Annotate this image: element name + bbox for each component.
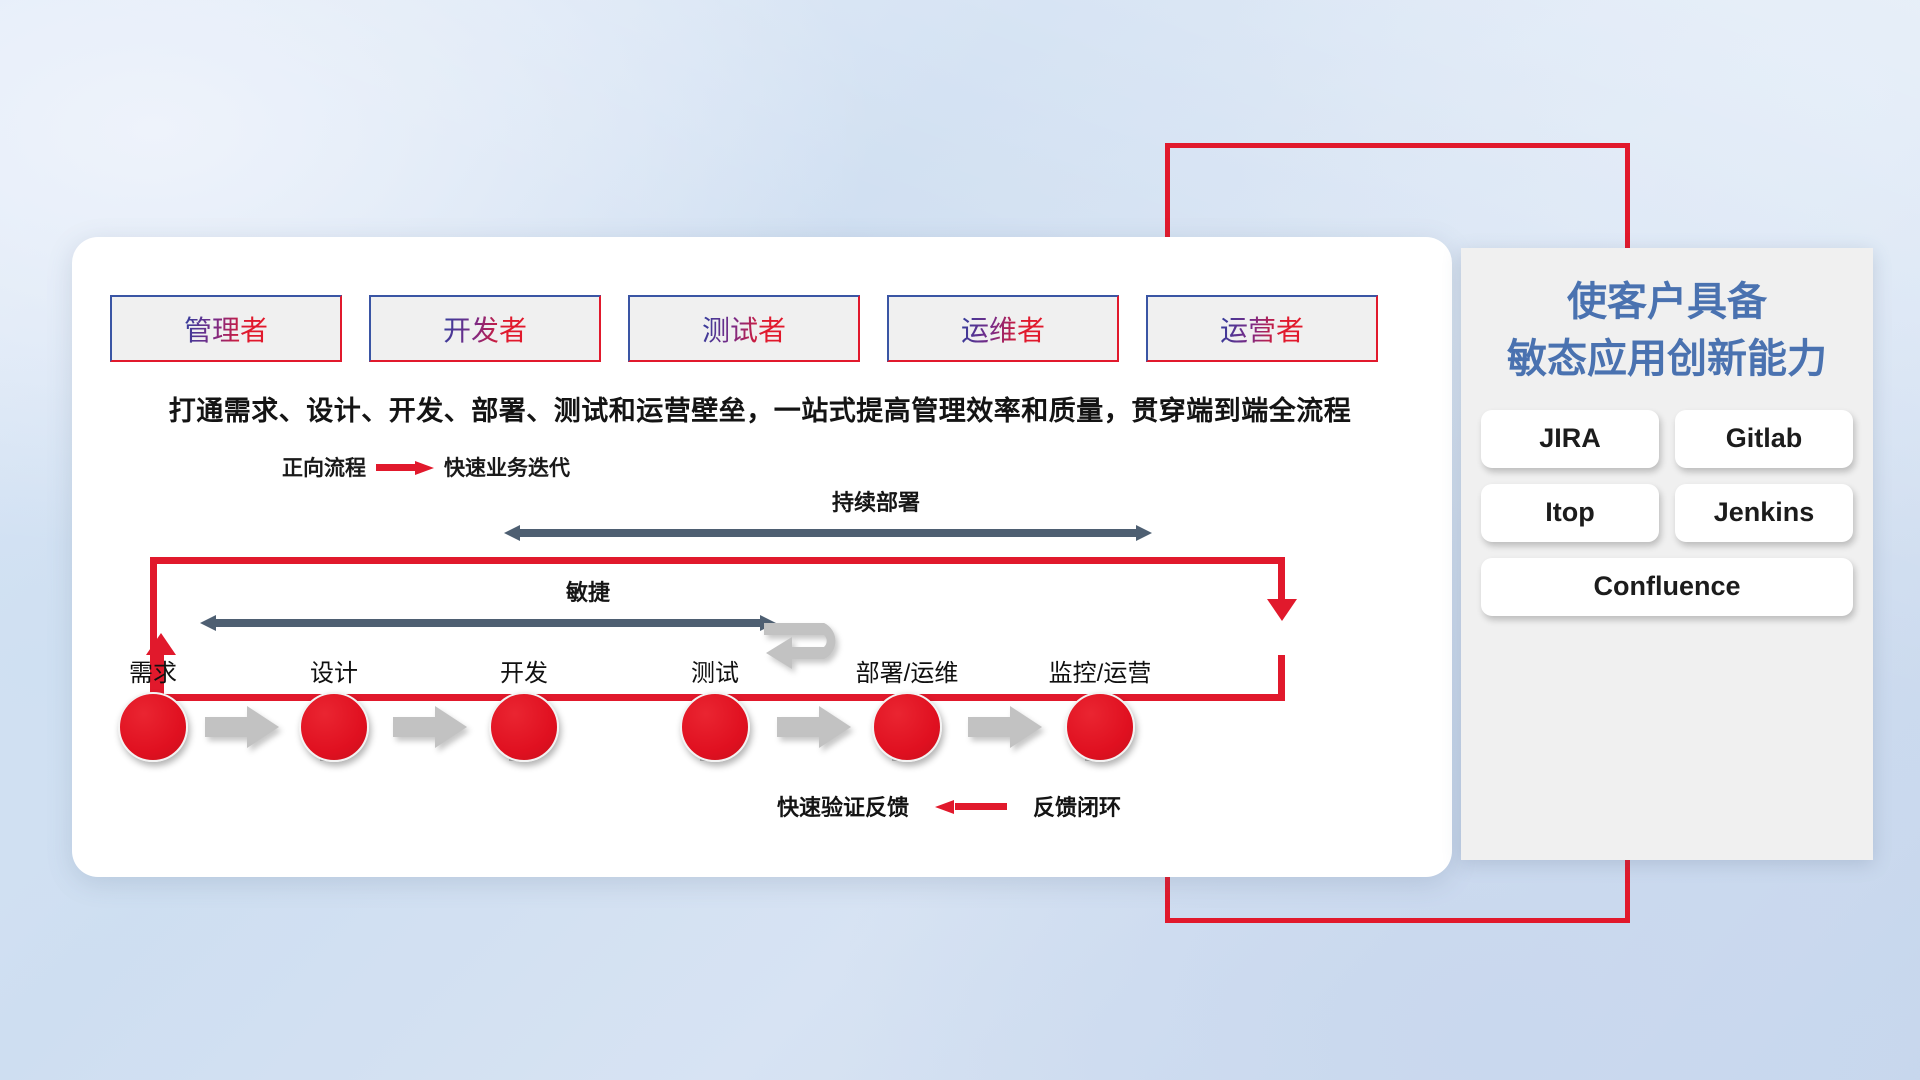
pipeline-node-label: 监控/运营 bbox=[1049, 653, 1152, 688]
role-label: 运维者 bbox=[961, 309, 1045, 349]
pipeline-node-dot bbox=[299, 692, 369, 762]
pipeline-node-dot bbox=[872, 692, 942, 762]
gray-block-arrow-icon-4 bbox=[968, 706, 1042, 748]
double-headed-arrow-icon-agile bbox=[200, 615, 776, 631]
panel-title: 使客户具备 敏态应用创新能力 bbox=[1461, 248, 1873, 388]
red-loop-right-line bbox=[1278, 557, 1285, 601]
double-headed-arrow-icon-continuous-deploy bbox=[504, 525, 1152, 541]
red-arrow-right-icon bbox=[376, 461, 434, 473]
pipeline-node-requirement[interactable]: 需求 bbox=[118, 692, 188, 762]
role-box-ops[interactable]: 运维者 bbox=[887, 295, 1119, 362]
span-arrow-label-continuous-deploy: 持续部署 bbox=[832, 485, 920, 517]
pipeline-node-deploy-ops[interactable]: 部署/运维 bbox=[872, 692, 942, 762]
pipeline-node-label: 需求 bbox=[129, 653, 177, 688]
legend-forward-flow: 正向流程 快速业务迭代 bbox=[282, 452, 570, 482]
legend-feedback-right-label: 反馈闭环 bbox=[1033, 790, 1121, 822]
u-turn-loop-arrow-icon bbox=[762, 615, 868, 685]
red-bracket-bottom-edge bbox=[1165, 918, 1630, 923]
pipeline-node-development[interactable]: 开发 bbox=[489, 692, 559, 762]
legend-feedback-left-label: 快速验证反馈 bbox=[777, 790, 909, 822]
roles-row: 管理者 开发者 测试者 运维者 运营者 bbox=[110, 295, 1378, 362]
gray-block-arrow-icon-2 bbox=[393, 706, 467, 748]
pipeline-node-test[interactable]: 测试 bbox=[680, 692, 750, 762]
pipeline-node-label: 设计 bbox=[310, 653, 358, 688]
role-box-developer[interactable]: 开发者 bbox=[369, 295, 601, 362]
tool-tag-itop[interactable]: Itop bbox=[1481, 484, 1659, 542]
role-box-tester[interactable]: 测试者 bbox=[628, 295, 860, 362]
legend-forward-right-label: 快速业务迭代 bbox=[444, 452, 570, 482]
tool-tag-jira[interactable]: JIRA bbox=[1481, 410, 1659, 468]
pipeline-node-label: 测试 bbox=[691, 653, 739, 688]
role-label: 开发者 bbox=[443, 309, 527, 349]
pipeline-node-monitor-operations[interactable]: 监控/运营 bbox=[1065, 692, 1135, 762]
span-arrow-label-agile: 敏捷 bbox=[566, 575, 610, 607]
role-label: 测试者 bbox=[702, 309, 786, 349]
panel-title-line2: 敏态应用创新能力 bbox=[1461, 331, 1873, 388]
legend-forward-left-label: 正向流程 bbox=[282, 452, 366, 482]
pipeline-node-design[interactable]: 设计 bbox=[299, 692, 369, 762]
role-box-manager[interactable]: 管理者 bbox=[110, 295, 342, 362]
gray-block-arrow-icon-1 bbox=[205, 706, 279, 748]
pipeline-node-dot bbox=[1065, 692, 1135, 762]
pipeline-node-dot bbox=[680, 692, 750, 762]
pipeline-node-label: 开发 bbox=[500, 653, 548, 688]
red-arrow-left-icon bbox=[935, 800, 1007, 812]
panel-title-line1: 使客户具备 bbox=[1461, 274, 1873, 331]
pipeline-node-label: 部署/运维 bbox=[856, 653, 959, 688]
role-label: 管理者 bbox=[184, 309, 268, 349]
tool-tag-gitlab[interactable]: Gitlab bbox=[1675, 410, 1853, 468]
legend-feedback-loop: 快速验证反馈 反馈闭环 bbox=[777, 790, 1121, 822]
role-box-operations[interactable]: 运营者 bbox=[1146, 295, 1378, 362]
role-label: 运营者 bbox=[1220, 309, 1304, 349]
tools-list: JIRA Gitlab Itop Jenkins Confluence bbox=[1461, 388, 1873, 616]
main-card: 管理者 开发者 测试者 运维者 运营者 打通需求、设计、开发、部署、测试和运营壁… bbox=[72, 237, 1452, 877]
red-loop-down-arrowhead-icon bbox=[1267, 599, 1297, 621]
pipeline-node-dot bbox=[118, 692, 188, 762]
gray-block-arrow-icon-3 bbox=[777, 706, 851, 748]
tool-tag-confluence[interactable]: Confluence bbox=[1481, 558, 1853, 616]
tool-tag-jenkins[interactable]: Jenkins bbox=[1675, 484, 1853, 542]
tools-panel: 使客户具备 敏态应用创新能力 JIRA Gitlab Itop Jenkins … bbox=[1461, 248, 1873, 860]
card-subtitle: 打通需求、设计、开发、部署、测试和运营壁垒，一站式提高管理效率和质量，贯穿端到端… bbox=[110, 389, 1410, 428]
red-loop-top-line bbox=[150, 557, 1285, 564]
pipeline-node-dot bbox=[489, 692, 559, 762]
